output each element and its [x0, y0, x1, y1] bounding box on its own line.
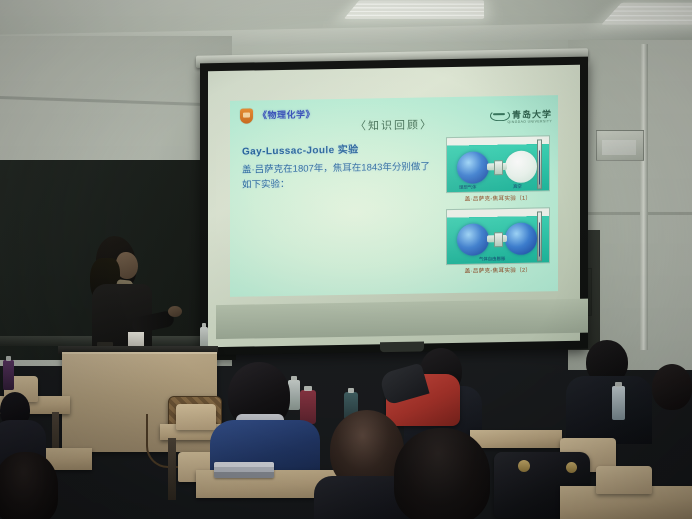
- screen-bottom-weight: [380, 341, 424, 352]
- wall-speaker-box: [596, 130, 644, 161]
- experiment-1-label-left: 理想气体: [459, 185, 477, 191]
- desk-row-back-right: [470, 430, 562, 448]
- experiment-1-label-right: 真空: [513, 184, 522, 190]
- desk-support-right1: [168, 438, 176, 500]
- projection-screen: 《物理化学》 〈知识回顾〉 青岛大学 QINGDAO UNIVERSITY Ga…: [200, 57, 588, 356]
- slide-body-text: 盖·吕萨克在1807年，焦耳在1843年分别做了如下实验：: [242, 159, 432, 192]
- projected-slide: 《物理化学》 〈知识回顾〉 青岛大学 QINGDAO UNIVERSITY Ga…: [230, 95, 558, 297]
- student-torso: [566, 376, 652, 444]
- experiment-1-apparatus: 理想气体 真空: [446, 135, 550, 193]
- handbag-clasp-icon: [518, 460, 530, 472]
- wave-emblem-icon: [490, 108, 508, 121]
- student-head: [394, 428, 490, 519]
- slide-heading: Gay-Lussac-Joule 实验: [242, 141, 359, 158]
- handbag-clasp-icon-2: [566, 462, 577, 473]
- lecture-hall-photo: 《物理化学》 〈知识回顾〉 青岛大学 QINGDAO UNIVERSITY Ga…: [0, 0, 692, 519]
- student-head: [652, 364, 692, 410]
- gay-lussac-joule-experiment-2: 气体自由膨胀 盖·吕萨克-焦耳实验（2）: [446, 207, 550, 275]
- water-bottle-clear-right: [612, 386, 625, 420]
- thermometer-icon: [537, 139, 542, 189]
- notebook-stack: [214, 462, 274, 478]
- valve-icon: [494, 232, 503, 247]
- student-head: [0, 452, 58, 519]
- experiment-1-caption: 盖·吕萨克-焦耳实验（1）: [446, 191, 550, 203]
- thermos-maroon: [300, 390, 316, 424]
- valve-icon: [494, 160, 503, 175]
- gay-lussac-joule-experiment-1: 理想气体 真空 盖·吕萨克-焦耳实验（1）: [446, 135, 550, 203]
- chair-back-right-1: [176, 404, 216, 430]
- lecturer-hand: [168, 306, 182, 317]
- experiment-2-label-center: 气体自由膨胀: [479, 256, 505, 262]
- thermos-purple: [3, 360, 14, 390]
- lecturer-at-podium: [72, 236, 176, 362]
- chair-back-front-right: [596, 466, 652, 494]
- experiment-2-caption: 盖·吕萨克-焦耳实验（2）: [446, 263, 550, 275]
- thermometer-icon: [537, 211, 542, 261]
- conduit-pipe: [640, 44, 648, 350]
- university-name-sub: QINGDAO UNIVERSITY: [507, 119, 552, 124]
- screen-surface: 《物理化学》 〈知识回顾〉 青岛大学 QINGDAO UNIVERSITY Ga…: [208, 65, 580, 347]
- screen-blank-area: [216, 299, 588, 339]
- experiment-2-apparatus: 气体自由膨胀: [446, 207, 550, 265]
- fluorescent-light-left: [344, 0, 484, 19]
